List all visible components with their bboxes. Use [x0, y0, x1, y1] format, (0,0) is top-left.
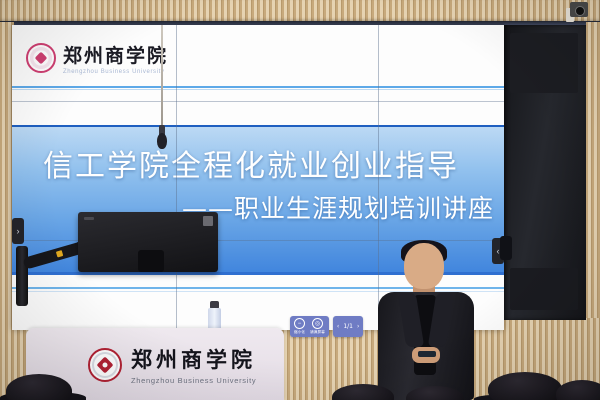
- wall-right-wood: [586, 22, 600, 366]
- university-emblem-icon: [26, 43, 56, 73]
- fit-screen-label: 铺满屏幕: [310, 330, 325, 335]
- podium-logo-en-name: Zhengzhou Business University: [131, 376, 256, 385]
- zoom-out-icon: −: [294, 318, 305, 329]
- hanging-microphone-icon: [158, 25, 166, 147]
- slide-logo-cn-name: 郑州商学院: [63, 41, 168, 68]
- viewer-toolbar-page-group[interactable]: ‹ 1/1 ›: [333, 316, 363, 337]
- presenter-handheld-device: [418, 351, 436, 357]
- audience-head: [488, 372, 562, 400]
- university-emblem-icon: [88, 348, 122, 382]
- slide-rule-1: [12, 86, 504, 88]
- screen-edge-tab-left[interactable]: ›: [12, 218, 24, 244]
- camera-lens: [575, 6, 585, 16]
- zoom-out-button[interactable]: − 缩小化: [294, 318, 305, 335]
- slide-title-line-2: ——职业生涯规划培训讲座: [182, 189, 494, 225]
- fit-screen-icon: ◎: [312, 318, 323, 329]
- next-page-icon[interactable]: ›: [357, 323, 359, 330]
- podium-logo-cn-name: 郑州商学院: [131, 344, 256, 374]
- wall-mid-right-wood: [498, 318, 600, 368]
- wall-speaker-column: [504, 25, 586, 320]
- presenter-head: [404, 243, 444, 289]
- slide-logo-en-name: Zhengzhou Business University: [63, 69, 168, 75]
- videowall-seam-h1: [12, 101, 504, 102]
- audience-head: [6, 374, 72, 400]
- prev-page-icon[interactable]: ‹: [337, 323, 339, 330]
- arm-knob-1: [56, 250, 63, 257]
- ceiling-wood-panel: [0, 0, 600, 22]
- lecture-hall-photo: 信工学院全程化就业创业指导 ——职业生涯规划培训讲座 郑州商学院 Zhengzh…: [0, 0, 600, 400]
- desk-monitor-icon: [78, 212, 218, 272]
- bottle-body: [208, 308, 221, 329]
- viewer-toolbar[interactable]: − 缩小化 ◎ 铺满屏幕 ‹ 1/1 ›: [290, 316, 363, 337]
- speaker-column-handle: [500, 236, 512, 260]
- podium-logo: 郑州商学院 Zhengzhou Business University: [88, 344, 256, 385]
- slide-rule-2: [12, 89, 504, 90]
- zoom-out-label: 缩小化: [294, 330, 305, 335]
- videowall-seam-v1: [176, 25, 177, 330]
- monitor-sticker: [203, 216, 213, 226]
- ceiling-camera-icon: [566, 2, 588, 20]
- fit-screen-button[interactable]: ◎ 铺满屏幕: [310, 318, 325, 335]
- water-bottle-icon: [208, 301, 221, 329]
- slide-mid-white: [12, 87, 504, 127]
- viewer-toolbar-zoom-group[interactable]: − 缩小化 ◎ 铺满屏幕: [290, 316, 329, 337]
- microphone-capsule: [157, 133, 167, 149]
- slide-title-line-1: 信工学院全程化就业创业指导: [12, 141, 490, 185]
- monitor-post: [16, 246, 28, 306]
- presenter: [376, 243, 476, 400]
- slide-logo: 郑州商学院 Zhengzhou Business University: [26, 41, 168, 75]
- monitor-vesa-mount: [138, 250, 164, 272]
- microphone-wire: [161, 25, 163, 131]
- page-indicator: 1/1: [343, 323, 353, 330]
- monitor-brand-mark: [84, 217, 94, 220]
